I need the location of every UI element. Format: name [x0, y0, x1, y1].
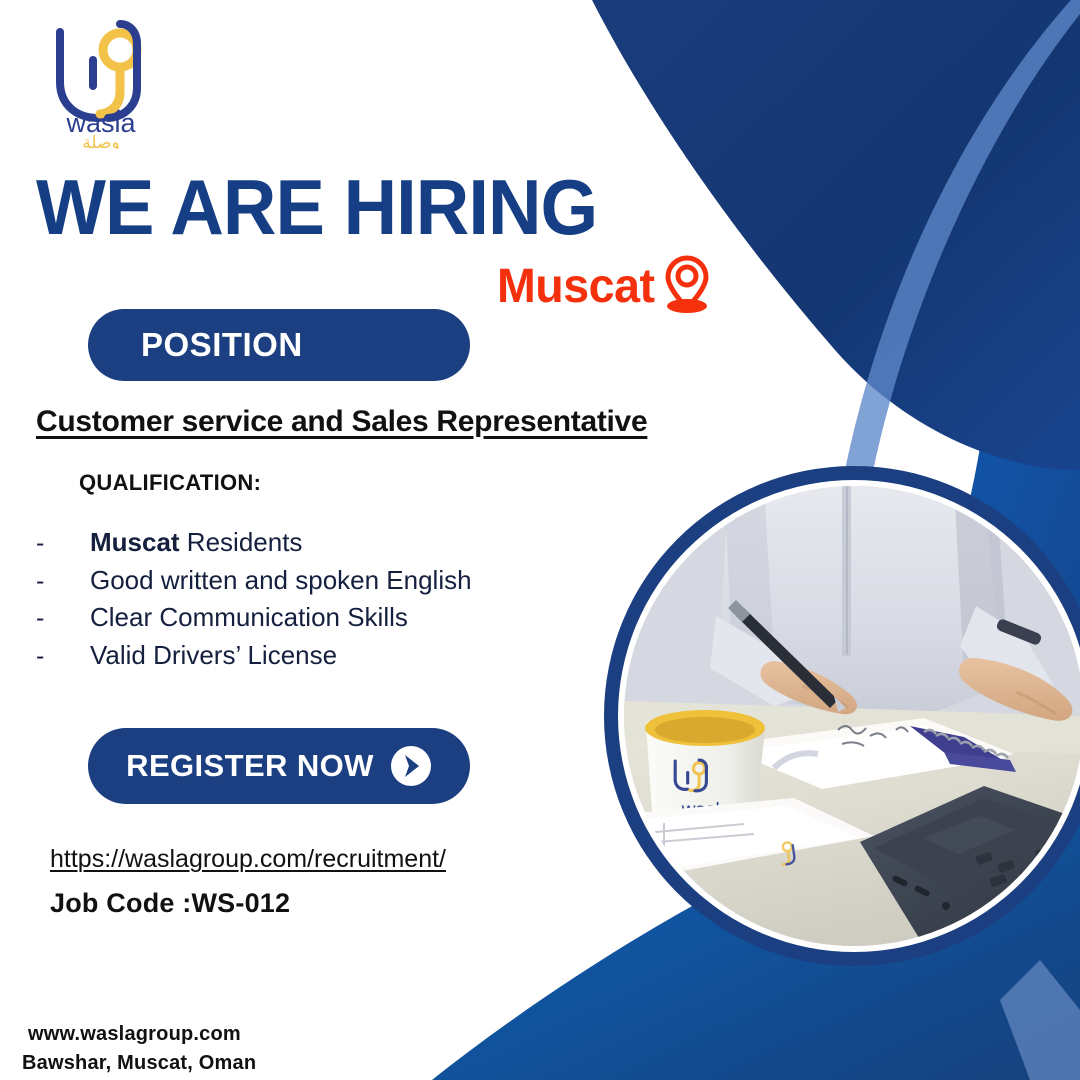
list-item-label: Valid Drivers’ License [90, 640, 337, 670]
list-item: - Muscat Residents [36, 524, 556, 562]
city-label: Muscat [497, 259, 655, 314]
qualification-list: - Muscat Residents - Good written and sp… [36, 524, 556, 674]
location-pin-icon [661, 254, 713, 314]
footer-address: Bawshar, Muscat, Oman [22, 1052, 256, 1075]
list-item-label: Clear Communication Skills [90, 602, 408, 632]
list-item: - Clear Communication Skills [36, 599, 556, 637]
footer-website: www.waslagroup.com [28, 1023, 241, 1046]
city-badge: Muscat [497, 258, 713, 314]
job-title: Customer service and Sales Representativ… [36, 405, 647, 439]
hiring-poster: wasla وصلة WE ARE HIRING Muscat POSITION… [0, 0, 1080, 1080]
register-now-label: REGISTER NOW [126, 748, 374, 784]
photo-frame: wasla وصلة [604, 466, 1080, 966]
list-item: - Good written and spoken English [36, 562, 556, 600]
office-desk-illustration: wasla وصلة [624, 486, 1080, 946]
list-item-bold: Muscat [90, 527, 180, 557]
background-bottom-accent-stripe [1000, 960, 1080, 1080]
list-bullet: - [36, 639, 90, 675]
position-pill: POSITION [88, 309, 470, 381]
list-item-label: Residents [180, 527, 303, 557]
list-bullet: - [36, 601, 90, 637]
wasla-logo: wasla وصلة [36, 14, 166, 149]
arrow-circle-right-icon [390, 745, 432, 787]
register-now-button[interactable]: REGISTER NOW [88, 728, 470, 804]
background-top-navy-shape [592, 0, 1080, 470]
list-bullet: - [36, 564, 90, 600]
qualification-heading: QUALIFICATION: [79, 470, 261, 496]
wasla-logo-icon: wasla وصلة [36, 14, 166, 149]
wasla-wordmark-arabic: وصلة [82, 133, 119, 149]
list-bullet: - [36, 526, 90, 562]
list-item-label: Good written and spoken English [90, 565, 472, 595]
office-desk-photo: wasla وصلة [624, 486, 1080, 946]
position-pill-label: POSITION [88, 326, 303, 364]
list-item: - Valid Drivers’ License [36, 637, 556, 675]
page-title: WE ARE HIRING [36, 168, 597, 246]
job-code: Job Code :WS-012 [50, 888, 290, 919]
application-url-link[interactable]: https://waslagroup.com/recruitment/ [50, 845, 446, 874]
